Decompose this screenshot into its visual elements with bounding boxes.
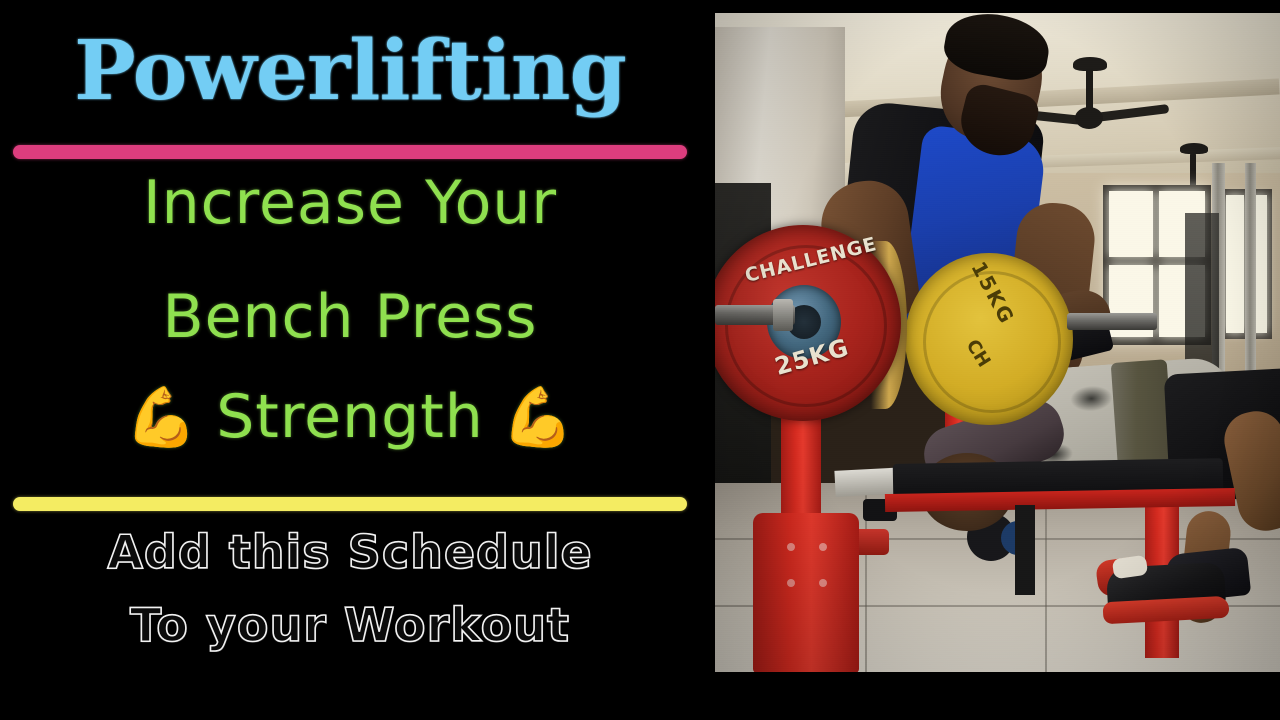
ceiling-fan-hub [1075,107,1103,129]
barbell-sleeve-right [1067,313,1157,330]
rack-bolt [787,579,795,587]
video-thumbnail: Powerlifting Increase Your Bench Press 💪… [0,0,1280,720]
headline-line-3-row: 💪 Strength 💪 [0,382,700,452]
text-panel: Powerlifting Increase Your Bench Press 💪… [0,0,700,720]
rack-bolt [819,543,827,551]
headline-line-1: Increase Your [0,168,700,238]
rack-bolt [819,579,827,587]
barbell-collar [773,299,793,331]
headline-line-2: Bench Press [0,282,700,352]
window-pane [1109,191,1153,257]
divider-yellow [13,497,687,511]
headline-line-3: Strength [216,382,484,452]
rack-bolt [787,543,795,551]
rack-hardware [1185,213,1219,383]
flexed-biceps-icon-right: 💪 [502,388,575,446]
page-title: Powerlifting [0,30,700,112]
window-pane [1226,195,1244,333]
bench-leg [1015,505,1035,595]
power-rack-base [753,513,859,672]
gym-photo: 15KG CH CHALLENGE 25KG [715,13,1280,672]
floor-tile-line [1045,483,1047,672]
subtext-line-2: To your Workout [0,598,700,652]
divider-pink [13,145,687,159]
flexed-biceps-icon-left: 💪 [125,388,198,446]
subtext-line-1: Add this Schedule [0,525,700,579]
